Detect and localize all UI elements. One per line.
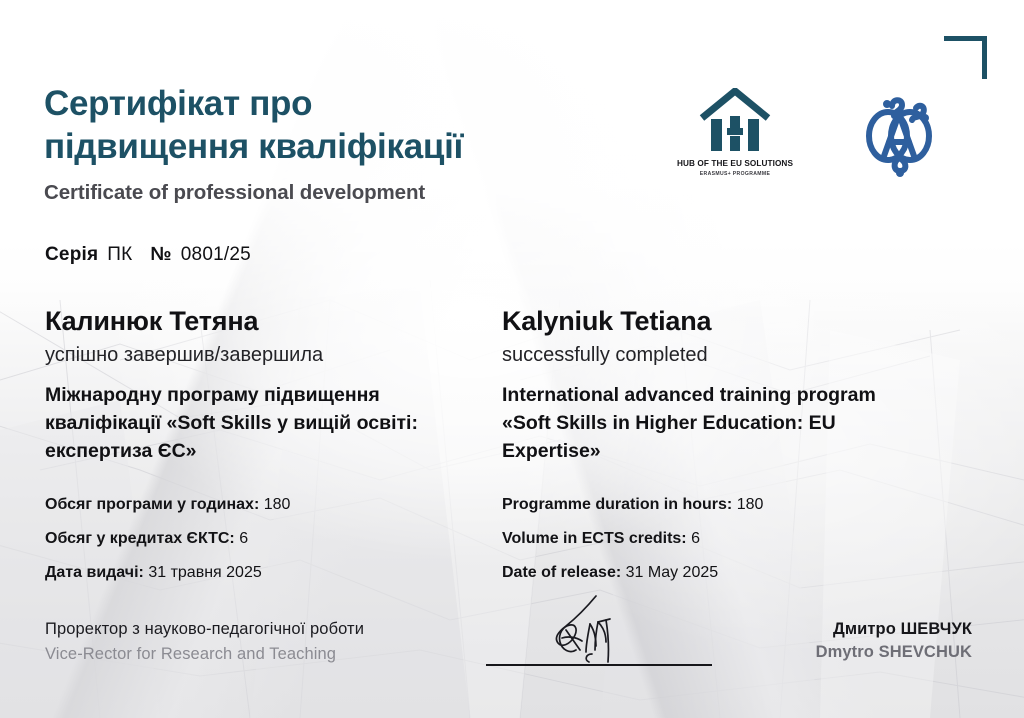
detail-value: 180	[264, 496, 291, 513]
handwritten-signature-icon	[536, 592, 666, 666]
logo-group: HUB OF THE EU SOLUTIONS ERASMUS+ PROGRAM…	[670, 88, 936, 183]
detail-row: Programme duration in hours: 180	[502, 497, 932, 513]
column-english: Kalyniuk Tetiana successfully completed …	[502, 305, 902, 465]
program-title-ua: Міжнародну програму підвищення кваліфіка…	[45, 382, 465, 465]
page-title-ua: Сертифікат про підвищення кваліфікації	[44, 82, 644, 169]
certificate-page: Сертифікат про підвищення кваліфікації C…	[0, 0, 1024, 718]
detail-key: Обсяг у кредитах ЄКТС:	[45, 530, 235, 547]
detail-value: 6	[691, 530, 700, 547]
detail-row: Volume in ECTS credits: 6	[502, 531, 932, 547]
detail-row: Date of release: 31 May 2025	[502, 565, 932, 581]
signer-role-ua: Проректор з науково-педагогічної роботи	[45, 618, 475, 640]
page-title-ua-line2: підвищення кваліфікації	[44, 125, 644, 168]
signature-line	[486, 664, 712, 666]
detail-key: Обсяг програми у годинах:	[45, 496, 259, 513]
completion-text-en: successfully completed	[502, 343, 902, 368]
detail-key: Programme duration in hours:	[502, 496, 732, 513]
ostroh-academy-monogram-icon	[862, 94, 936, 178]
hub-logo-subtitle: ERASMUS+ PROGRAMME	[670, 171, 800, 177]
details-ukrainian: Обсяг програми у годинах: 180 Обсяг у кр…	[45, 497, 475, 599]
signer-role-en: Vice-Rector for Research and Teaching	[45, 643, 475, 665]
number-symbol: №	[150, 244, 171, 265]
signer-role-block: Проректор з науково-педагогічної роботи …	[45, 618, 475, 666]
detail-row: Обсяг у кредитах ЄКТС: 6	[45, 531, 475, 547]
serial-number-line: СеріяПК№0801/25	[45, 244, 251, 266]
number-value: 0801/25	[181, 244, 251, 265]
certificate-header: Сертифікат про підвищення кваліфікації C…	[44, 82, 644, 205]
series-label: Серія	[45, 244, 98, 265]
detail-key: Date of release:	[502, 564, 621, 581]
signer-name-en: Dmytro SHEVCHUK	[816, 643, 972, 662]
page-title-en: Certificate of professional development	[44, 181, 644, 205]
detail-value: 31 May 2025	[626, 564, 719, 581]
detail-key: Дата видачі:	[45, 564, 144, 581]
program-title-en: International advanced training program …	[502, 382, 902, 465]
recipient-name-en: Kalyniuk Tetiana	[502, 305, 902, 337]
signer-name-block: Дмитро ШЕВЧУК Dmytro SHEVCHUK	[816, 620, 972, 662]
signature-block	[486, 592, 716, 672]
signer-name-ua: Дмитро ШЕВЧУК	[816, 620, 972, 639]
completion-text-ua: успішно завершив/завершила	[45, 343, 465, 368]
hub-eu-solutions-logo: HUB OF THE EU SOLUTIONS ERASMUS+ PROGRAM…	[670, 88, 800, 177]
series-value: ПК	[107, 244, 132, 265]
recipient-name-ua: Калинюк Тетяна	[45, 305, 465, 337]
detail-row: Дата видачі: 31 травня 2025	[45, 565, 475, 581]
detail-key: Volume in ECTS credits:	[502, 530, 687, 547]
ostroh-academy-logo	[862, 94, 936, 183]
detail-value: 6	[239, 530, 248, 547]
house-with-h-icon	[697, 88, 773, 154]
page-title-ua-line1: Сертифікат про	[44, 82, 644, 125]
detail-value: 180	[737, 496, 764, 513]
detail-value: 31 травня 2025	[148, 564, 261, 581]
column-ukrainian: Калинюк Тетяна успішно завершив/завершил…	[45, 305, 465, 465]
details-english: Programme duration in hours: 180 Volume …	[502, 497, 932, 599]
detail-row: Обсяг програми у годинах: 180	[45, 497, 475, 513]
hub-logo-name: HUB OF THE EU SOLUTIONS	[670, 159, 800, 168]
